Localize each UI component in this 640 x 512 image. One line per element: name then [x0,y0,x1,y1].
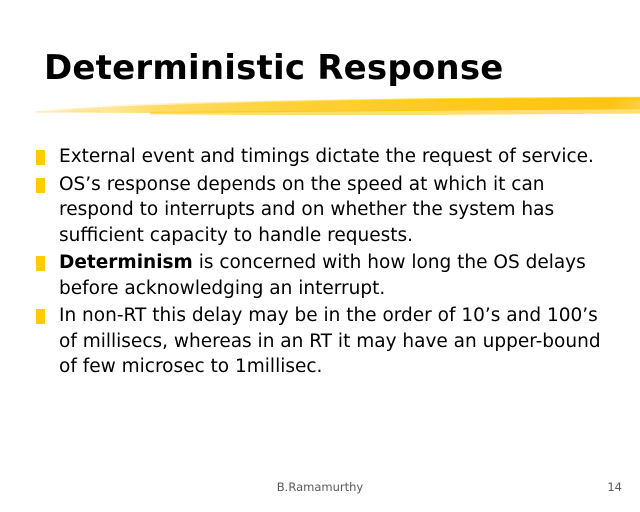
list-item-text: Determinism is concerned with how long t… [59,250,616,301]
footer-page-number: 14 [607,480,622,494]
list-item-emphasis: Determinism [59,252,193,273]
presentation-slide: Deterministic Response [0,0,640,512]
list-item-text: External event and timings dictate the r… [59,144,616,170]
list-item: Determinism is concerned with how long t… [36,250,616,301]
title-block: Deterministic Response [0,46,640,106]
square-bullet-icon [36,309,45,324]
list-item-text: In non-RT this delay may be in the order… [59,303,616,380]
list-item: External event and timings dictate the r… [36,144,616,170]
square-bullet-icon [36,178,45,193]
footer-author: B.Ramamurthy [0,480,640,494]
bullet-list: External event and timings dictate the r… [36,144,616,382]
page-title: Deterministic Response [44,46,504,90]
square-bullet-icon [36,150,45,165]
list-item: In non-RT this delay may be in the order… [36,303,616,380]
square-bullet-icon [36,256,45,271]
slide-footer: B.Ramamurthy 14 [0,480,640,500]
list-item: OS’s response depends on the speed at wh… [36,172,616,249]
list-item-text: OS’s response depends on the speed at wh… [59,172,616,249]
